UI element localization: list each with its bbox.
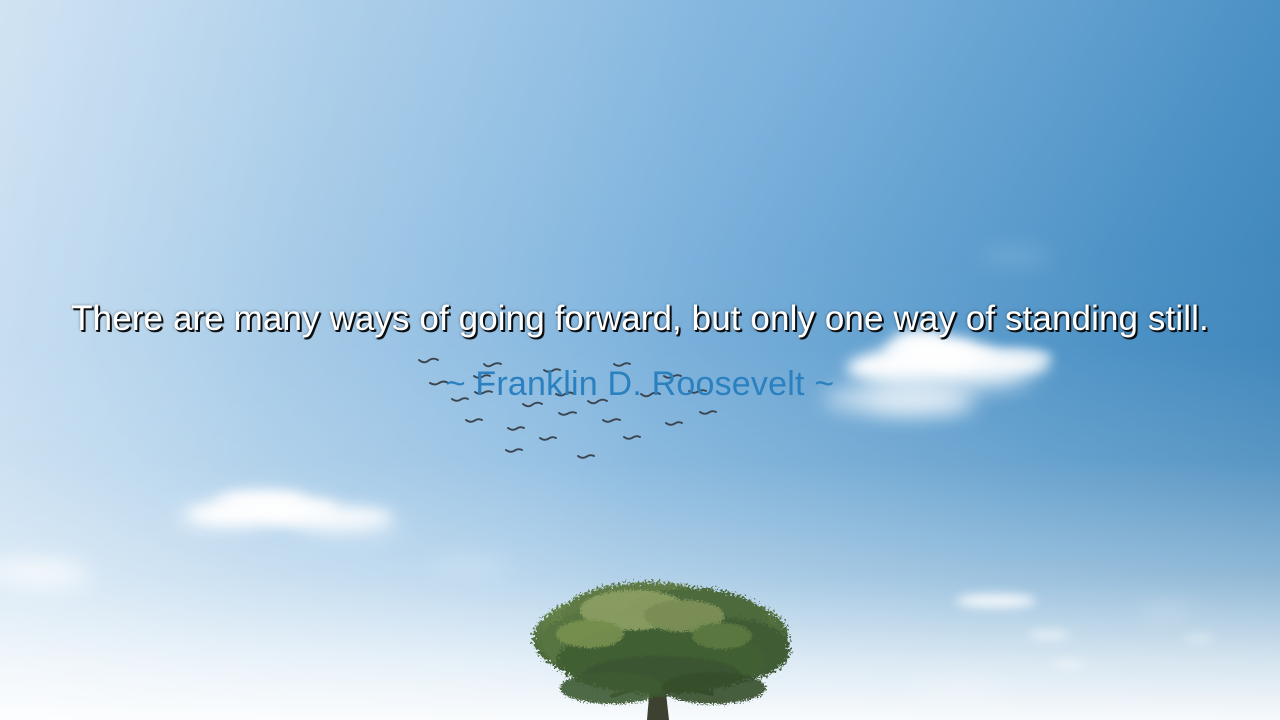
quote-block: There are many ways of going forward, bu… xyxy=(0,296,1280,405)
quote-text: There are many ways of going forward, bu… xyxy=(54,296,1226,341)
quote-image-canvas: There are many ways of going forward, bu… xyxy=(0,0,1280,720)
quote-author: ~ Franklin D. Roosevelt ~ xyxy=(54,341,1226,405)
